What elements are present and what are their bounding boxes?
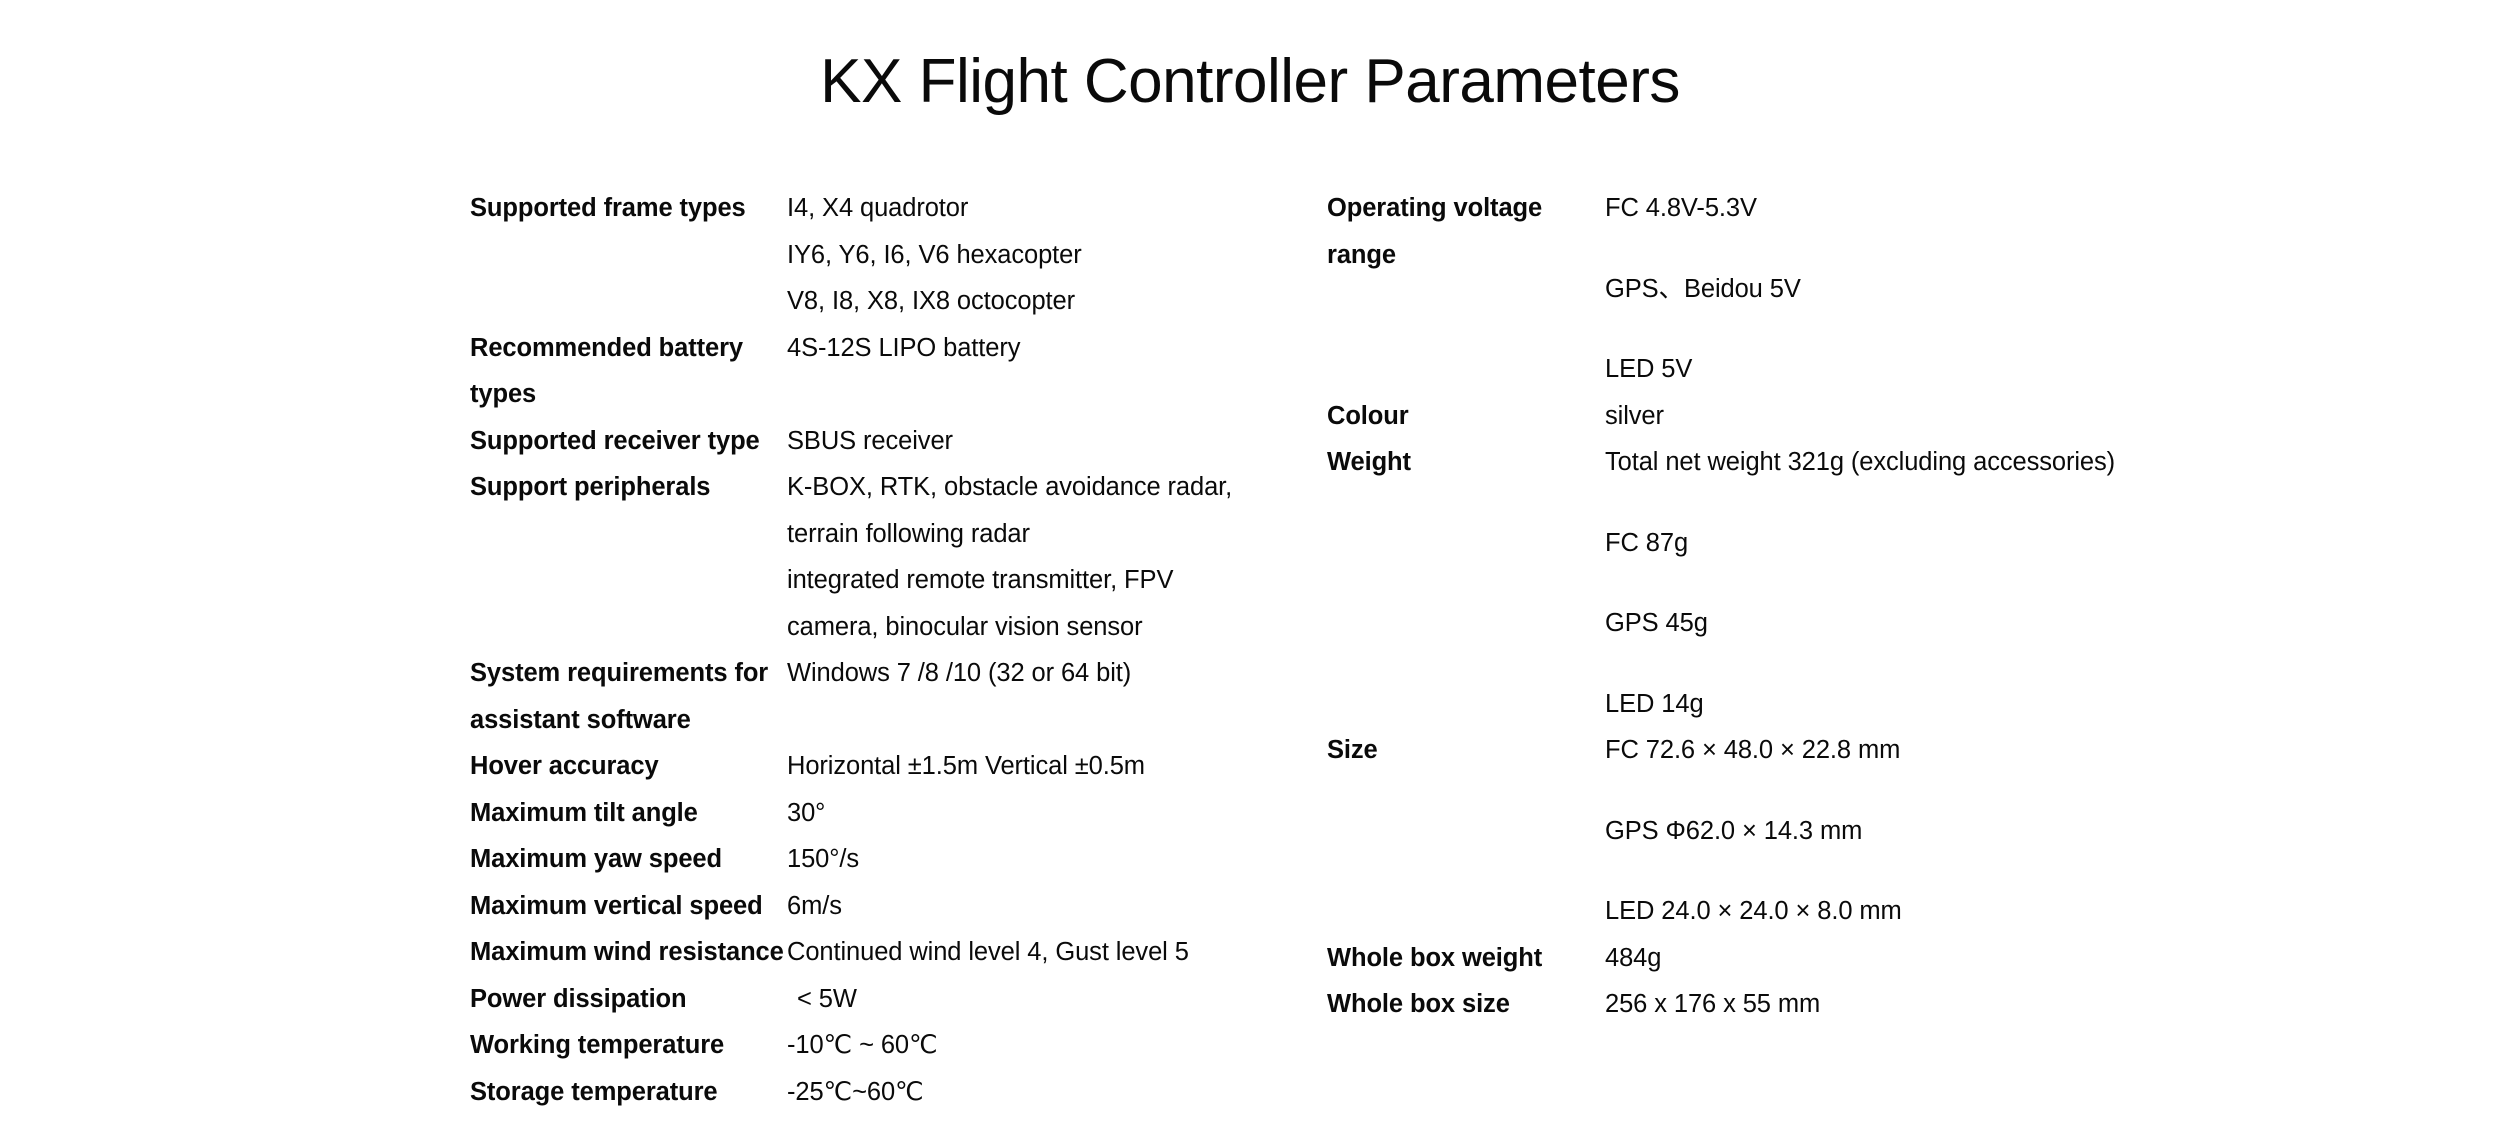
spec-values: K-BOX, RTK, obstacle avoidance radar, te… — [787, 464, 1270, 650]
spec-row-supported-receiver-type: Supported receiver type SBUS receiver — [470, 418, 1270, 465]
spec-row-maximum-wind-resistance: Maximum wind resistance Continued wind l… — [470, 929, 1270, 976]
spec-label: Operating voltage range — [1327, 185, 1605, 278]
spec-value: Continued wind level 4, Gust level 5 — [787, 929, 1270, 976]
spec-value: silver — [1605, 393, 2147, 440]
spec-label: Supported receiver type — [470, 418, 787, 465]
spec-label: Maximum yaw speed — [470, 836, 787, 883]
spec-row-whole-box-weight: Whole box weight 484g — [1327, 935, 2147, 982]
spec-values: Windows 7 /8 /10 (32 or 64 bit) — [787, 650, 1270, 697]
spec-row-maximum-yaw-speed: Maximum yaw speed 150°/s — [470, 836, 1270, 883]
spec-values: FC 72.6 × 48.0 × 22.8 mm GPS Φ62.0 × 14.… — [1605, 727, 2147, 935]
spec-row-power-dissipation: Power dissipation < 5W — [470, 976, 1270, 1023]
spec-row-hover-accuracy: Hover accuracy Horizontal ±1.5m Vertical… — [470, 743, 1270, 790]
spec-values: Continued wind level 4, Gust level 5 — [787, 929, 1270, 976]
spec-values: < 5W — [787, 976, 1270, 1023]
spec-row-size: Size FC 72.6 × 48.0 × 22.8 mm GPS Φ62.0 … — [1327, 727, 2147, 935]
spec-label: Power dissipation — [470, 976, 787, 1023]
spec-label: System requirements for assistant softwa… — [470, 650, 787, 743]
spec-values: Total net weight 321g (excluding accesso… — [1605, 439, 2147, 727]
spec-row-storage-temperature: Storage temperature -25℃~60℃ — [470, 1069, 1270, 1116]
spec-label: Hover accuracy — [470, 743, 787, 790]
spec-label: Colour — [1327, 393, 1605, 440]
spec-value: SBUS receiver — [787, 418, 1270, 465]
spec-row-support-peripherals: Support peripherals K-BOX, RTK, obstacle… — [470, 464, 1270, 650]
spec-row-system-requirements: System requirements for assistant softwa… — [470, 650, 1270, 743]
spec-row-whole-box-size: Whole box size 256 x 176 x 55 mm — [1327, 981, 2147, 1028]
spec-label: Recommended battery types — [470, 325, 787, 418]
spec-value: GPS Φ62.0 × 14.3 mm — [1605, 808, 2147, 855]
spec-row-weight: Weight Total net weight 321g (excluding … — [1327, 439, 2147, 727]
spec-values: 256 x 176 x 55 mm — [1605, 981, 2147, 1028]
spec-value: Windows 7 /8 /10 (32 or 64 bit) — [787, 650, 1270, 697]
spec-values: -10℃ ~ 60℃ — [787, 1022, 1270, 1069]
spec-label: Size — [1327, 727, 1605, 774]
spec-values: 6m/s — [787, 883, 1270, 930]
spec-label: Weight — [1327, 439, 1605, 486]
spec-value: -10℃ ~ 60℃ — [787, 1022, 1270, 1069]
spec-value: LED 5V — [1605, 346, 2147, 393]
spec-values: -25℃~60℃ — [787, 1069, 1270, 1116]
page-title: KX Flight Controller Parameters — [0, 48, 2500, 116]
spec-row-recommended-battery-types: Recommended battery types 4S-12S LIPO ba… — [470, 325, 1270, 418]
spec-value: < 5W — [787, 976, 1270, 1023]
spec-values: 150°/s — [787, 836, 1270, 883]
spec-row-supported-frame-types: Supported frame types I4, X4 quadrotor I… — [470, 185, 1270, 325]
spec-value: 150°/s — [787, 836, 1270, 883]
spec-value: V8, I8, X8, IX8 octocopter — [787, 278, 1270, 325]
spec-label: Supported frame types — [470, 185, 787, 232]
spec-row-maximum-vertical-speed: Maximum vertical speed 6m/s — [470, 883, 1270, 930]
spec-column-right: Operating voltage range FC 4.8V-5.3V GPS… — [1327, 185, 2147, 1028]
spec-value: I4, X4 quadrotor — [787, 185, 1270, 232]
spec-values: silver — [1605, 393, 2147, 440]
spec-value: Horizontal ±1.5m Vertical ±0.5m — [787, 743, 1270, 790]
spec-value: 256 x 176 x 55 mm — [1605, 981, 2147, 1028]
spec-value: Total net weight 321g (excluding accesso… — [1605, 439, 2147, 486]
spec-values: I4, X4 quadrotor IY6, Y6, I6, V6 hexacop… — [787, 185, 1270, 325]
spec-label: Maximum vertical speed — [470, 883, 787, 930]
spec-value: 6m/s — [787, 883, 1270, 930]
spec-value: LED 24.0 × 24.0 × 8.0 mm — [1605, 888, 2147, 935]
spec-value: GPS、Beidou 5V — [1605, 266, 2147, 313]
spec-label: Whole box weight — [1327, 935, 1605, 982]
spec-label: Maximum tilt angle — [470, 790, 787, 837]
spec-row-operating-voltage-range: Operating voltage range FC 4.8V-5.3V GPS… — [1327, 185, 2147, 393]
spec-row-working-temperature: Working temperature -10℃ ~ 60℃ — [470, 1022, 1270, 1069]
spec-values: 30° — [787, 790, 1270, 837]
spec-label: Maximum wind resistance — [470, 929, 787, 976]
spec-values: SBUS receiver — [787, 418, 1270, 465]
spec-values: 4S-12S LIPO battery — [787, 325, 1270, 372]
spec-value: LED 14g — [1605, 681, 2147, 728]
spec-value: FC 72.6 × 48.0 × 22.8 mm — [1605, 727, 2147, 774]
spec-label: Storage temperature — [470, 1069, 787, 1116]
spec-column-left: Supported frame types I4, X4 quadrotor I… — [470, 185, 1270, 1115]
spec-values: 484g — [1605, 935, 2147, 982]
spec-value: IY6, Y6, I6, V6 hexacopter — [787, 232, 1270, 279]
spec-label: Whole box size — [1327, 981, 1605, 1028]
spec-value: 30° — [787, 790, 1270, 837]
spec-value: 4S-12S LIPO battery — [787, 325, 1270, 372]
spec-label: Support peripherals — [470, 464, 787, 511]
spec-value: GPS 45g — [1605, 600, 2147, 647]
spec-label: Working temperature — [470, 1022, 787, 1069]
spec-row-colour: Colour silver — [1327, 393, 2147, 440]
spec-value: -25℃~60℃ — [787, 1069, 1270, 1116]
spec-values: FC 4.8V-5.3V GPS、Beidou 5V LED 5V — [1605, 185, 2147, 393]
spec-value: 484g — [1605, 935, 2147, 982]
spec-value: FC 87g — [1605, 520, 2147, 567]
spec-value: FC 4.8V-5.3V — [1605, 185, 2147, 232]
spec-value: K-BOX, RTK, obstacle avoidance radar, te… — [787, 464, 1270, 557]
spec-row-maximum-tilt-angle: Maximum tilt angle 30° — [470, 790, 1270, 837]
spec-value: integrated remote transmitter, FPV camer… — [787, 557, 1270, 650]
spec-values: Horizontal ±1.5m Vertical ±0.5m — [787, 743, 1270, 790]
